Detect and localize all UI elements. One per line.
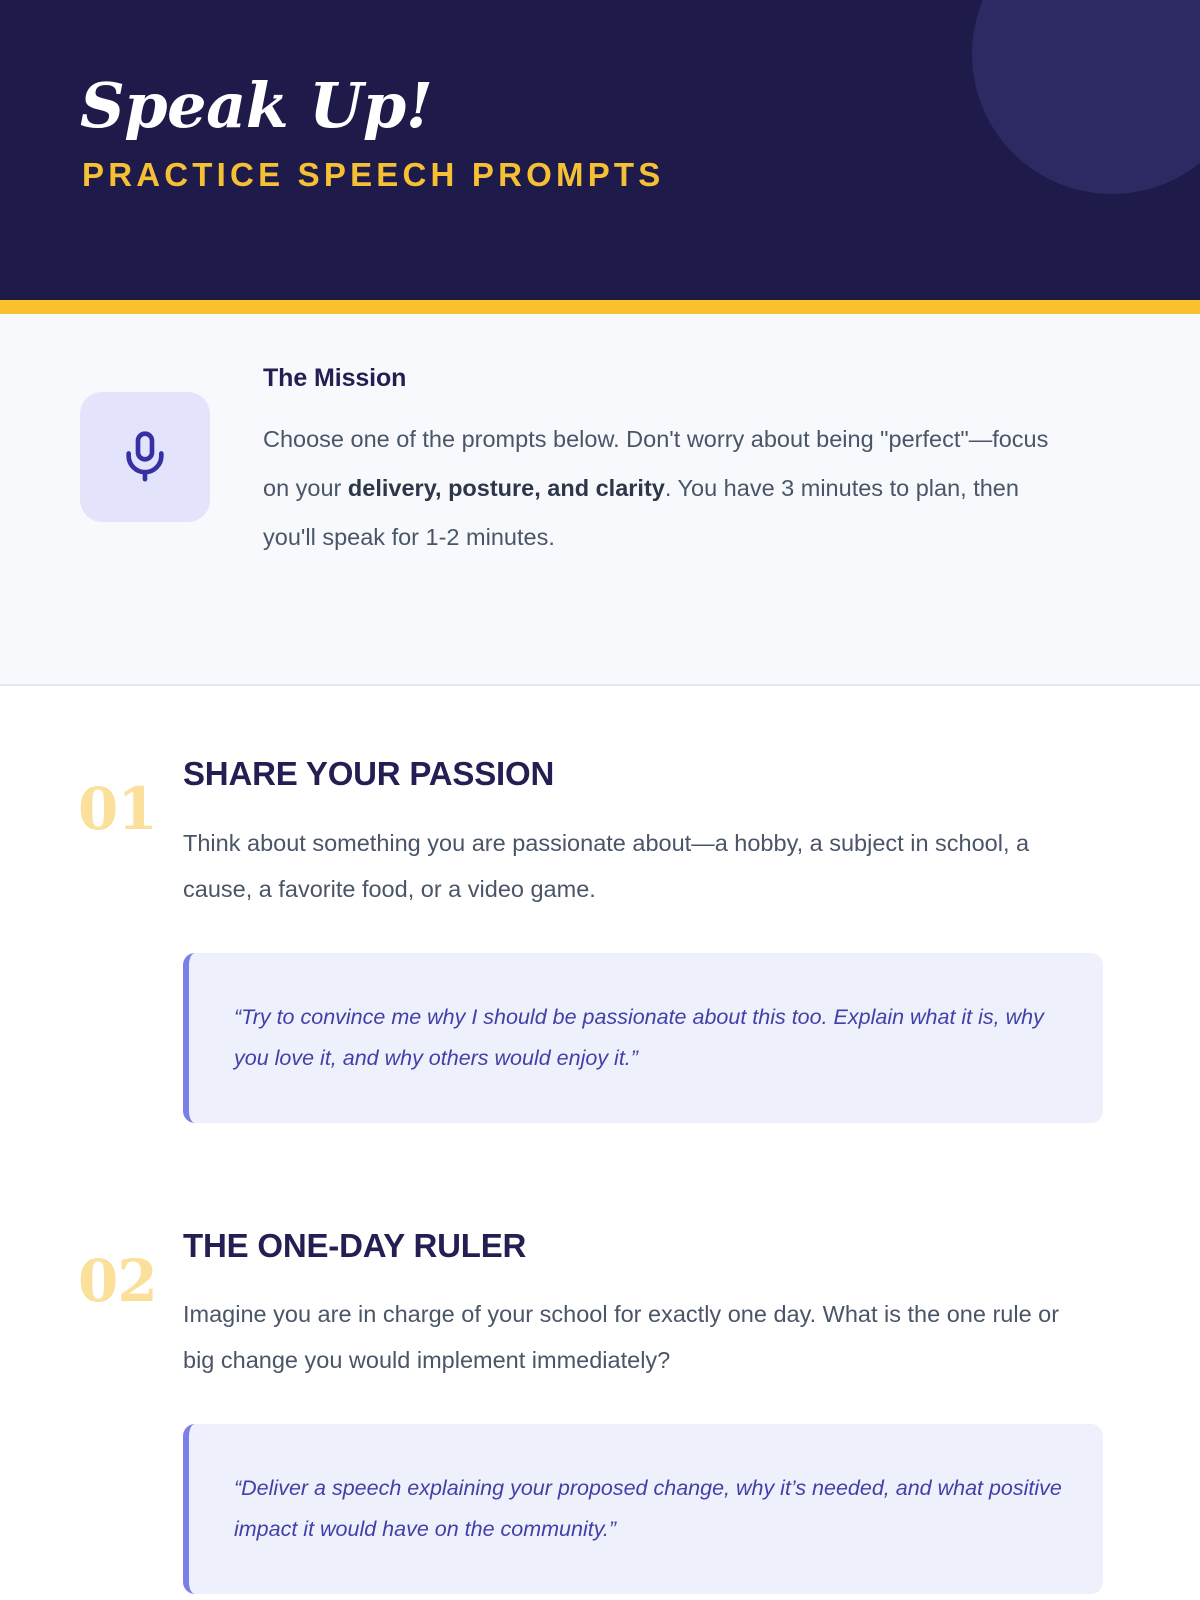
mission-band: The Mission Choose one of the prompts be… <box>0 314 1200 686</box>
microphone-icon-tile <box>80 392 210 522</box>
prompt-body: Think about something you are passionate… <box>183 820 1088 912</box>
prompt-number: 02 <box>78 1252 157 1310</box>
mission-text-block: The Mission Choose one of the prompts be… <box>263 364 1090 562</box>
prompt-title: SHARE YOUR PASSION <box>183 754 1110 794</box>
gold-accent-bar <box>0 300 1200 314</box>
prompt-body: Imagine you are in charge of your school… <box>183 1291 1088 1383</box>
prompts-list: 01 SHARE YOUR PASSION Think about someth… <box>0 754 1200 1594</box>
prompt-quote-box: “Try to convince me why I should be pass… <box>183 953 1103 1123</box>
mission-body-emphasis: delivery, posture, and clarity <box>348 475 665 501</box>
prompt-quote-text: “Deliver a speech explaining your propos… <box>234 1468 1065 1550</box>
prompt-title: THE ONE-DAY RULER <box>183 1226 1110 1266</box>
header-decorative-circle <box>972 0 1200 194</box>
header-text-block: Speak Up! PRACTICE SPEECH PROMPTS <box>80 74 665 195</box>
page-header: Speak Up! PRACTICE SPEECH PROMPTS <box>0 0 1200 300</box>
page-title: Speak Up! <box>80 74 665 137</box>
page-subtitle: PRACTICE SPEECH PROMPTS <box>82 155 665 195</box>
mission-heading: The Mission <box>263 364 1090 393</box>
prompt-item: 01 SHARE YOUR PASSION Think about someth… <box>0 754 1200 1123</box>
prompt-quote-box: “Deliver a speech explaining your propos… <box>183 1424 1103 1594</box>
mission-body: Choose one of the prompts below. Don't w… <box>263 415 1073 562</box>
prompt-quote-text: “Try to convince me why I should be pass… <box>234 997 1065 1079</box>
prompt-number: 01 <box>78 780 157 838</box>
mission-row: The Mission Choose one of the prompts be… <box>80 364 1090 562</box>
prompt-item: 02 THE ONE-DAY RULER Imagine you are in … <box>0 1226 1200 1595</box>
microphone-icon <box>117 429 173 485</box>
